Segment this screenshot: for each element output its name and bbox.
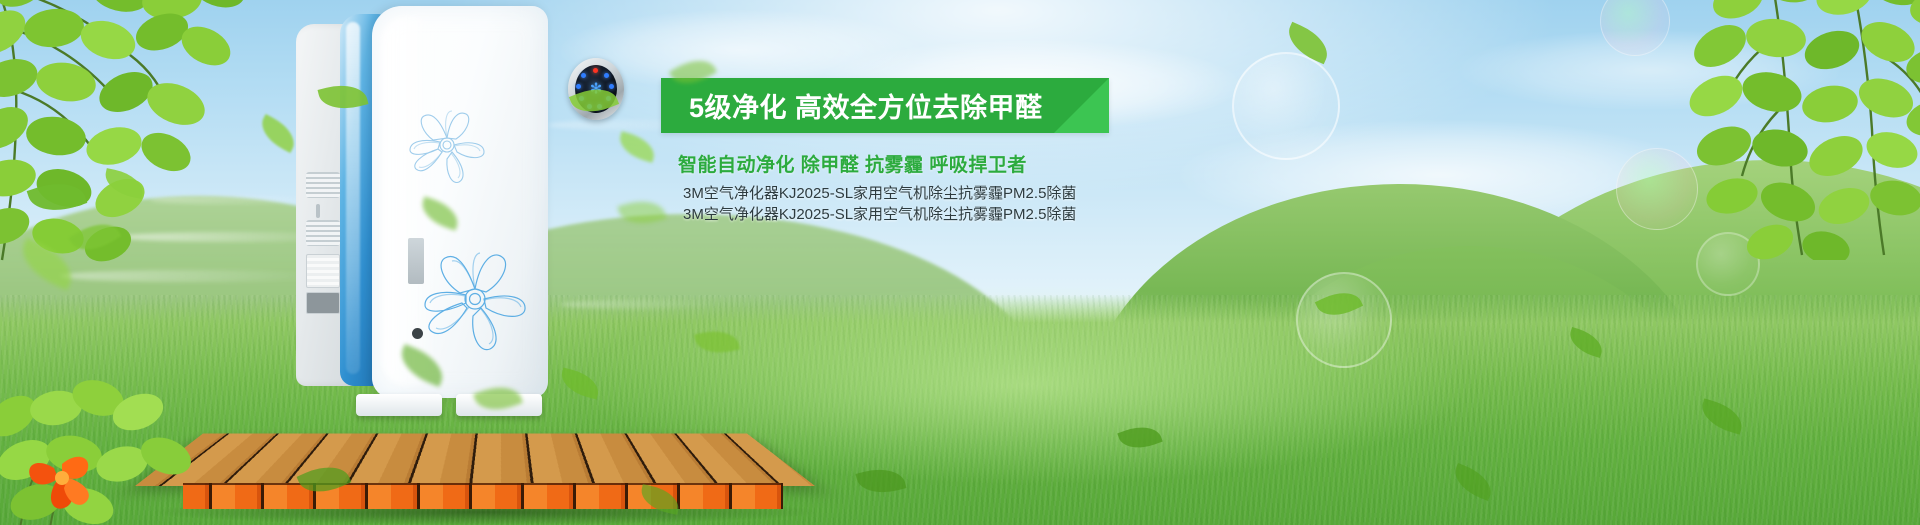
grass-light-glow bbox=[576, 285, 1476, 485]
led-indicator bbox=[581, 73, 586, 78]
purifier-blue-highlight bbox=[346, 22, 360, 374]
led-indicator bbox=[609, 84, 614, 89]
subheadline-text: 智能自动净化 除甲醛 抗雾霾 呼吸捍卫者 bbox=[678, 150, 1027, 177]
bokeh-circle-tinted bbox=[1616, 148, 1698, 230]
led-indicator bbox=[579, 96, 584, 101]
led-indicator bbox=[576, 84, 581, 89]
led-indicator bbox=[606, 96, 611, 101]
purifier-control-display[interactable]: ✻ bbox=[568, 58, 624, 120]
purifier-warning-label bbox=[306, 254, 340, 288]
product-banner: ✻ 5级净化 高效全方位去除甲醛 智能自动净化 除甲醛 抗雾霾 呼吸捍卫者 3M… bbox=[0, 0, 1920, 525]
headline-banner: 5级净化 高效全方位去除甲醛 bbox=[661, 78, 1109, 133]
led-indicator bbox=[604, 73, 609, 78]
air-purifier: ✻ bbox=[296, 6, 548, 406]
purifier-foot bbox=[456, 394, 542, 416]
flower-decal-upper bbox=[402, 102, 492, 188]
purifier-side-button[interactable] bbox=[316, 204, 320, 218]
purifier-vent-icon bbox=[306, 220, 340, 246]
description-line-2: 3M空气净化器KJ2025-SL家用空气机除尘抗雾霾PM2.5除菌 bbox=[683, 203, 1076, 224]
purifier-vent-icon bbox=[306, 172, 340, 198]
display-screen: ✻ bbox=[575, 65, 617, 113]
snowflake-icon: ✻ bbox=[590, 82, 603, 97]
purifier-foot bbox=[356, 394, 442, 416]
flower-decal-lower bbox=[416, 242, 534, 360]
led-indicator-alert bbox=[593, 68, 598, 73]
led-indicator bbox=[597, 104, 602, 109]
purifier-spec-label bbox=[306, 292, 340, 314]
headline-text: 5级净化 高效全方位去除甲醛 bbox=[689, 86, 1043, 125]
led-indicator bbox=[587, 104, 592, 109]
description-line-1: 3M空气净化器KJ2025-SL家用空气机除尘抗雾霾PM2.5除菌 bbox=[683, 182, 1076, 203]
